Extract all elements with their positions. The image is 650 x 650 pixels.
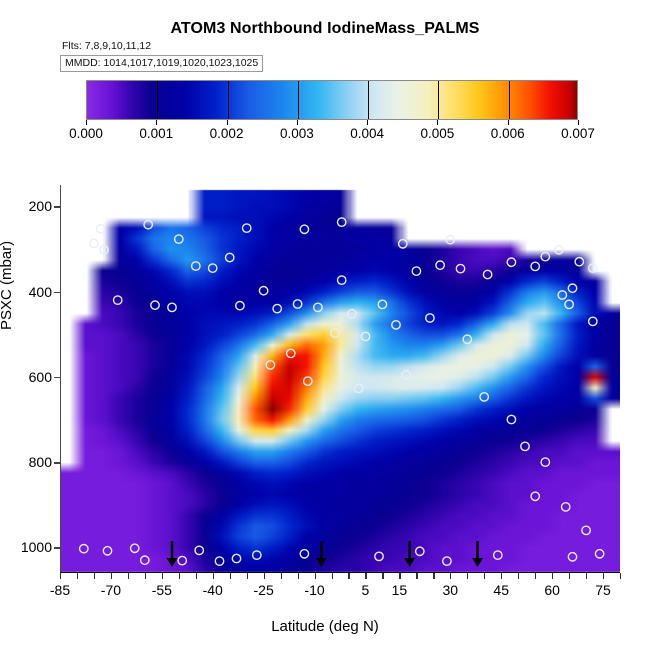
colorbar-tick-label: 0.003 xyxy=(280,126,314,141)
x-axis-tick xyxy=(60,573,61,579)
colorbar-tick-label: 0.006 xyxy=(491,126,525,141)
colorbar-tick xyxy=(367,120,368,125)
x-axis-tick-label: 75 xyxy=(595,582,611,598)
y-axis-tick-label: 1000 xyxy=(8,539,52,555)
x-axis-title: Latitude (deg N) xyxy=(0,618,650,635)
x-axis-tick xyxy=(433,573,434,579)
x-axis-tick xyxy=(264,573,265,579)
page-title: ATOM3 Northbound IodineMass_PALMS xyxy=(0,20,650,38)
y-axis-tick-label: 200 xyxy=(8,198,52,214)
x-axis-tick xyxy=(247,573,248,579)
y-axis-tick xyxy=(54,206,60,208)
x-axis-tick xyxy=(94,573,95,579)
x-axis-tick xyxy=(501,573,502,579)
colorbar-tick-label: 0.000 xyxy=(69,126,103,141)
colorbar-tick xyxy=(578,120,579,125)
x-axis-tick-label: -10 xyxy=(304,582,324,598)
y-axis-tick xyxy=(54,547,60,549)
x-axis-tick xyxy=(162,573,163,579)
x-axis-tick xyxy=(552,573,553,579)
x-axis-tick xyxy=(416,573,417,579)
colorbar-tick xyxy=(86,120,87,125)
x-axis-tick-label: -55 xyxy=(152,582,172,598)
colorbar-tick-label: 0.001 xyxy=(139,126,173,141)
y-axis-title: PSXC (mbar) xyxy=(0,241,15,330)
x-axis-tick xyxy=(518,573,519,579)
colorbar-divider xyxy=(228,81,229,119)
x-axis-tick-label: 15 xyxy=(392,582,408,598)
colorbar-tick-label: 0.004 xyxy=(350,126,384,141)
heatmap-plot-area: 2004006008001000-85-70-55-40-25-10515304… xyxy=(60,185,620,573)
x-axis-tick xyxy=(111,573,112,579)
x-axis-tick xyxy=(365,573,366,579)
x-axis-tick-label: -40 xyxy=(203,582,223,598)
x-axis-tick-label: 30 xyxy=(443,582,459,598)
colorbar-divider xyxy=(298,81,299,119)
x-axis-tick xyxy=(230,573,231,579)
colorbar-tick xyxy=(437,120,438,125)
colorbar-tick-label: 0.007 xyxy=(561,126,595,141)
x-axis-tick xyxy=(298,573,299,579)
x-axis-tick xyxy=(535,573,536,579)
x-axis-tick xyxy=(128,573,129,579)
x-axis-tick xyxy=(569,573,570,579)
x-axis-tick xyxy=(213,573,214,579)
x-axis-tick xyxy=(179,573,180,579)
x-axis-tick xyxy=(620,573,621,579)
x-axis-tick-label: 45 xyxy=(493,582,509,598)
x-axis-tick xyxy=(586,573,587,579)
y-axis-tick xyxy=(54,377,60,379)
colorbar-divider xyxy=(157,81,158,119)
colorbar-tick-label: 0.002 xyxy=(210,126,244,141)
x-axis-tick xyxy=(382,573,383,579)
colorbar-tick xyxy=(508,120,509,125)
colorbar-tick xyxy=(227,120,228,125)
x-axis-tick xyxy=(281,573,282,579)
x-axis-tick xyxy=(77,573,78,579)
y-axis-tick xyxy=(54,462,60,464)
x-axis-tick xyxy=(450,573,451,579)
x-axis-tick-label: -85 xyxy=(50,582,70,598)
x-axis-tick-label: -25 xyxy=(254,582,274,598)
x-axis-tick xyxy=(196,573,197,579)
y-axis-tick xyxy=(54,292,60,294)
x-axis-tick xyxy=(145,573,146,579)
colorbar-tick-label: 0.005 xyxy=(421,126,455,141)
y-axis-tick-label: 600 xyxy=(8,369,52,385)
colorbar: 0.0000.0010.0020.0030.0040.0050.0060.007 xyxy=(86,80,578,120)
x-axis-tick xyxy=(332,573,333,579)
x-axis-tick xyxy=(484,573,485,579)
x-axis-tick xyxy=(399,573,400,579)
colorbar-gradient xyxy=(86,80,578,120)
plot-frame xyxy=(60,185,620,573)
y-axis-tick-label: 800 xyxy=(8,454,52,470)
colorbar-divider xyxy=(509,81,510,119)
plot-page: ATOM3 Northbound IodineMass_PALMS Flts: … xyxy=(0,0,650,650)
x-axis-tick xyxy=(603,573,604,579)
x-axis-tick xyxy=(315,573,316,579)
mmdd-annotation-box: MMDD: 1014,1017,1019,1020,1023,1025 xyxy=(60,55,263,72)
colorbar-divider xyxy=(368,81,369,119)
flights-annotation: Flts: 7,8,9,10,11,12 xyxy=(62,40,151,52)
x-axis-tick-label: 5 xyxy=(362,582,370,598)
x-axis-tick xyxy=(348,573,349,579)
x-axis-tick-label: 60 xyxy=(544,582,560,598)
colorbar-tick xyxy=(156,120,157,125)
x-axis-tick-label: -70 xyxy=(101,582,121,598)
colorbar-divider xyxy=(438,81,439,119)
colorbar-tick xyxy=(297,120,298,125)
x-axis-tick xyxy=(467,573,468,579)
